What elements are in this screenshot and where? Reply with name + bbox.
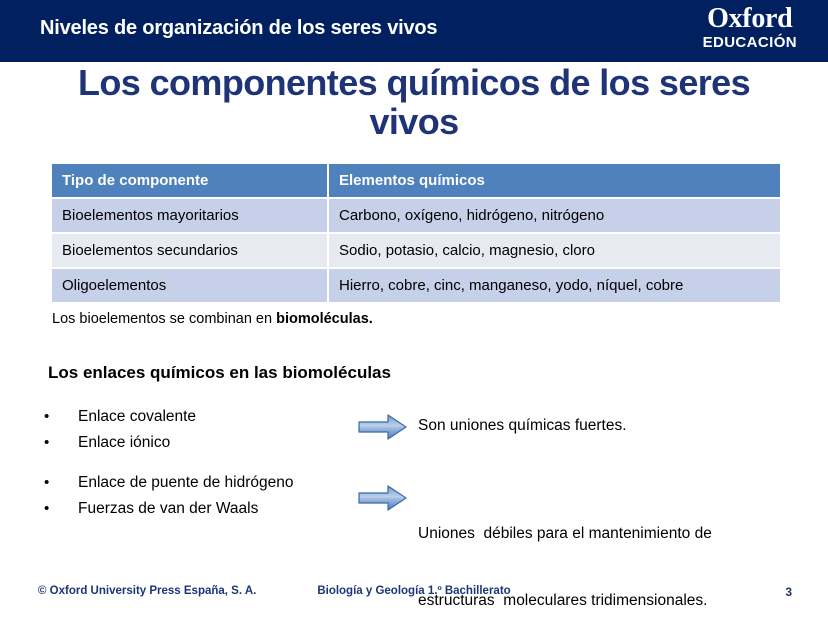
table-cell-elementos: Sodio, potasio, calcio, magnesio, cloro (329, 234, 780, 269)
list-item: • Enlace de puente de hidrógeno (44, 474, 293, 500)
table-row: Bioelementos secundarios Sodio, potasio,… (52, 234, 780, 269)
page-title: Los componentes químicos de los seres vi… (44, 64, 784, 141)
bullet-dot-icon: • (44, 475, 78, 490)
footer-course: Biología y Geología 1.º Bachillerato (0, 585, 828, 597)
table-cell-tipo: Bioelementos mayoritarios (52, 199, 329, 234)
table-row: Oligoelementos Hierro, cobre, cinc, mang… (52, 269, 780, 302)
table-cell-tipo: Bioelementos secundarios (52, 234, 329, 269)
table-header-tipo: Tipo de componente (52, 164, 329, 199)
right-arrow-icon-weak (358, 484, 408, 512)
list-item: • Enlace iónico (44, 434, 196, 460)
note-weak-bonds-line1: Uniones débiles para el mantenimiento de (418, 523, 712, 545)
oxford-logo: Oxford EDUCACIÓN (703, 5, 797, 50)
oxford-logo-subtitle: EDUCACIÓN (703, 35, 797, 50)
bullet-group-strong-bonds: • Enlace covalente • Enlace iónico (44, 408, 196, 460)
oxford-logo-wordmark: Oxford (703, 5, 797, 33)
note-strong-bonds: Son uniones químicas fuertes. (418, 415, 627, 437)
note-weak-bonds: Uniones débiles para el mantenimiento de… (418, 478, 712, 635)
bullet-group-weak-bonds: • Enlace de puente de hidrógeno • Fuerza… (44, 474, 293, 526)
list-item-label: Enlace covalente (78, 408, 196, 426)
footer-page-number: 3 (785, 585, 792, 599)
combine-sentence-emphasis: biomoléculas. (276, 311, 373, 327)
table-cell-elementos: Carbono, oxígeno, hidrógeno, nitrógeno (329, 199, 780, 234)
header-title: Niveles de organización de los seres viv… (40, 17, 437, 40)
right-arrow-icon (358, 484, 408, 512)
right-arrow-icon-strong (358, 413, 408, 441)
list-item: • Fuerzas de van der Waals (44, 500, 293, 526)
table-cell-tipo: Oligoelementos (52, 269, 329, 302)
section-subheading: Los enlaces químicos en las biomoléculas (48, 363, 391, 383)
combine-sentence: Los bioelementos se combinan en biomoléc… (52, 311, 373, 327)
table-cell-elementos: Hierro, cobre, cinc, manganeso, yodo, ní… (329, 269, 780, 302)
bullet-dot-icon: • (44, 435, 78, 450)
list-item-label: Enlace iónico (78, 434, 170, 452)
list-item-label: Fuerzas de van der Waals (78, 500, 258, 518)
table-header-elementos: Elementos químicos (329, 164, 780, 199)
combine-sentence-prefix: Los bioelementos se combinan en (52, 311, 276, 327)
right-arrow-icon (358, 413, 408, 441)
list-item: • Enlace covalente (44, 408, 196, 434)
table-row: Bioelementos mayoritarios Carbono, oxíge… (52, 199, 780, 234)
table-header-row: Tipo de componente Elementos químicos (52, 164, 780, 199)
components-table: Tipo de componente Elementos químicos Bi… (52, 164, 780, 302)
bullet-dot-icon: • (44, 501, 78, 516)
bullet-dot-icon: • (44, 409, 78, 424)
list-item-label: Enlace de puente de hidrógeno (78, 474, 293, 492)
